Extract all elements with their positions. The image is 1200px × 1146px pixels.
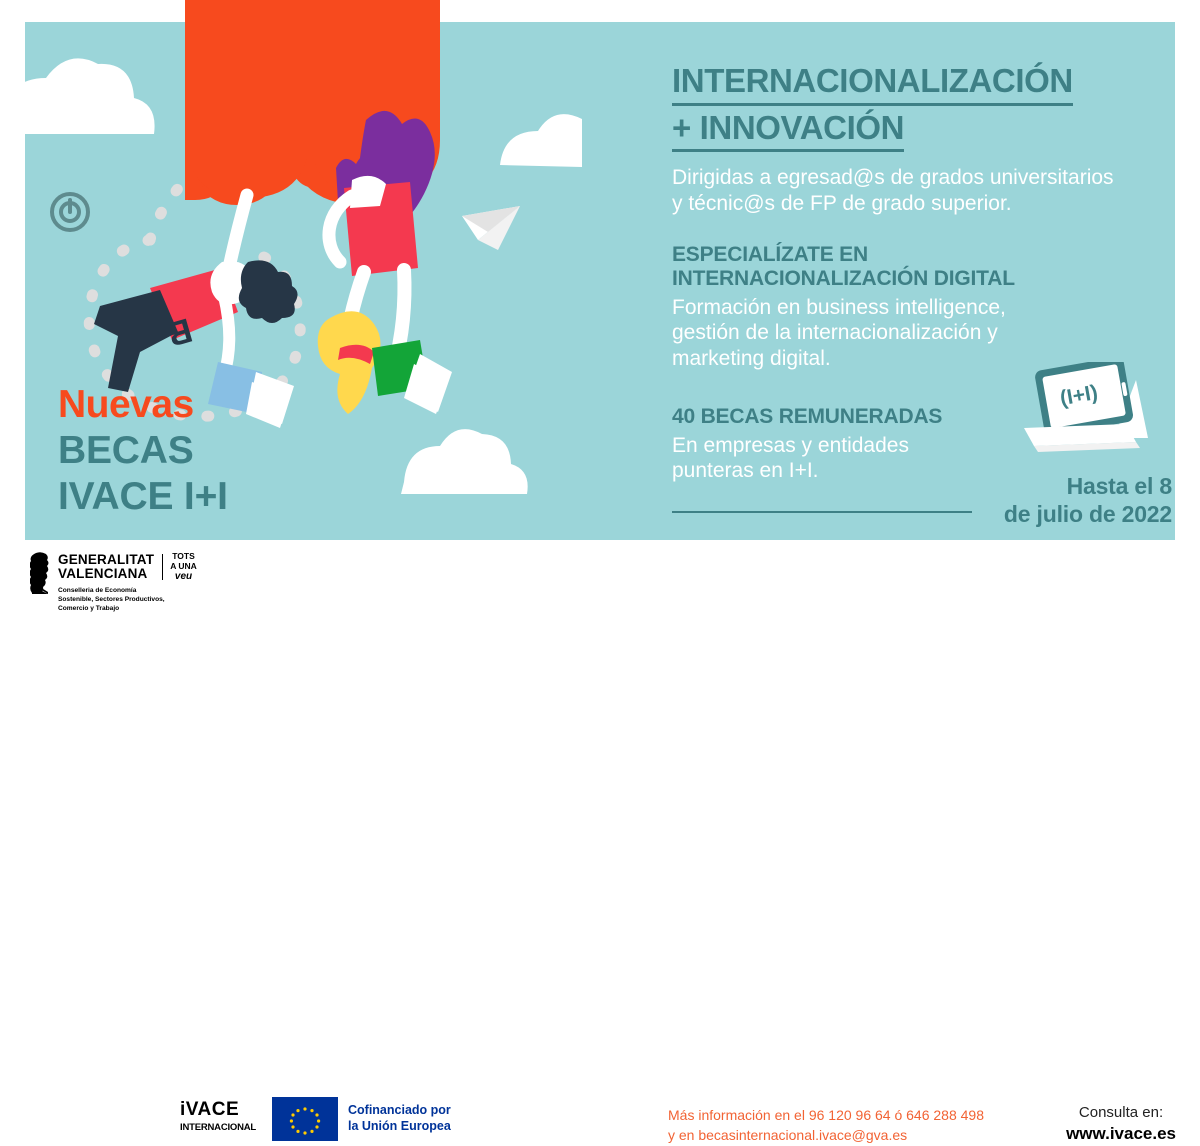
gva-name-line-1: GENERALITAT (58, 553, 154, 567)
section-especializate-heading: ESPECIALÍZATE EN INTERNACIONALIZACIÓN DI… (672, 243, 1172, 292)
cloud-icon-top-right (500, 114, 582, 167)
cloud-icon-bottom (401, 429, 528, 494)
gva-name: GENERALITAT VALENCIANA (58, 553, 154, 582)
main-title-line-2: + INNOVACIÓN (672, 109, 904, 153)
left-headline-ivace: IVACE I+I (58, 477, 228, 516)
tots-line-2: A UNA (170, 562, 197, 572)
generalitat-valenciana-logo: GENERALITAT VALENCIANA TOTS A UNA veu Co… (30, 552, 197, 614)
consulta-label: Consulta en: (1066, 1103, 1176, 1123)
lead-line-2: y técnic@s de FP de grado superior. (672, 191, 1172, 217)
deadline-line-1: Hasta el 8 (752, 472, 1172, 500)
gva-name-line-2: VALENCIANA (58, 567, 154, 581)
section-especializate-body: Formación en business intelligence, gest… (672, 295, 1172, 372)
conselleria-line-3: Comercio y Trabajo (58, 604, 197, 613)
poster-canvas: B (0, 0, 1200, 630)
contact-line-2[interactable]: y en becasinternacional.ivace@gva.es (668, 1125, 984, 1145)
contact-line-1: Más información en el 96 120 96 64 ó 646… (668, 1105, 984, 1125)
main-title-line-1: INTERNACIONALIZACIÓN (672, 62, 1073, 106)
body-line-2: gestión de la internacionalización y (672, 320, 1172, 346)
conselleria-line-2: Sostenible, Sectores Productivos, (58, 595, 197, 604)
main-title: INTERNACIONALIZACIÓN + INNOVACIÓN (672, 62, 1172, 152)
tots-line-3: veu (170, 571, 197, 582)
footer-bar: GENERALITAT VALENCIANA TOTS A UNA veu Co… (0, 540, 1200, 630)
left-headline-becas: BECAS (58, 431, 228, 470)
section-especializate: ESPECIALÍZATE EN INTERNACIONALIZACIÓN DI… (672, 243, 1172, 372)
heading-line-2: INTERNACIONALIZACIÓN DIGITAL (672, 267, 1172, 291)
gva-divider (162, 554, 163, 580)
deadline-text: Hasta el 8 de julio de 2022 (752, 472, 1172, 528)
ivace-internacional-logo: iVACE INTERNACIONAL (180, 1100, 256, 1133)
left-headline: Nuevas BECAS IVACE I+I (58, 385, 228, 516)
lead-paragraph: Dirigidas a egresad@s de grados universi… (672, 165, 1172, 217)
european-union-logo: Cofinanciado por la Unión Europea (272, 1097, 451, 1141)
eu-text-line-1: Cofinanciado por (348, 1103, 451, 1119)
gva-tots-a-una-veu: TOTS A UNA veu (170, 552, 197, 582)
heading-line-1: ESPECIALÍZATE EN (672, 243, 1172, 267)
eu-cofinanced-text: Cofinanciado por la Unión Europea (348, 1103, 451, 1134)
lead-line-1: Dirigidas a egresad@s de grados universi… (672, 165, 1172, 191)
consulta-url[interactable]: www.ivace.es (1066, 1123, 1176, 1145)
paper-plane-icon (462, 206, 520, 250)
ivace-wordmark: iVACE (180, 1100, 256, 1119)
gva-text-block: GENERALITAT VALENCIANA TOTS A UNA veu Co… (58, 552, 197, 614)
target-icon (52, 194, 88, 230)
ponytail (318, 311, 381, 414)
consulta-block: Consulta en: www.ivace.es (1066, 1103, 1176, 1145)
eu-text-line-2: la Unión Europea (348, 1119, 451, 1135)
book-green (372, 340, 452, 414)
conselleria-line-1: Conselleria de Economía (58, 586, 197, 595)
ivace-subtitle: INTERNACIONAL (180, 1123, 256, 1133)
left-headline-nuevas: Nuevas (58, 385, 228, 424)
gva-conselleria: Conselleria de Economía Sostenible, Sect… (58, 586, 197, 613)
cloud-icon-left (0, 58, 155, 134)
body-line-1: Formación en business intelligence, (672, 295, 1172, 321)
deadline-line-2: de julio de 2022 (752, 500, 1172, 528)
eu-flag-icon (272, 1097, 338, 1141)
gva-shield-icon (30, 552, 52, 594)
contact-info: Más información en el 96 120 96 64 ó 646… (668, 1105, 984, 1146)
gva-name-row: GENERALITAT VALENCIANA TOTS A UNA veu (58, 552, 197, 582)
laptop-icon: (I+I) (1018, 362, 1158, 458)
